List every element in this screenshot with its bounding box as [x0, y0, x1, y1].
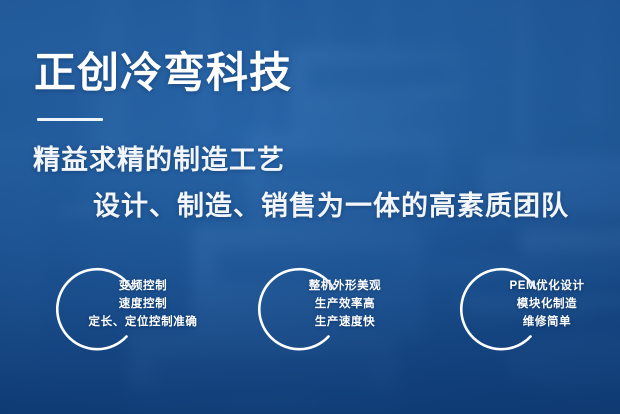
feature-text-3: PEM优化设计 模块化制造 维修简单: [464, 277, 620, 331]
headline-divider: [37, 118, 103, 121]
subtitle-line-2: 设计、制造、销售为一体的高素质团队: [93, 184, 569, 223]
feature-3-line-3: 维修简单: [464, 313, 620, 331]
feature-1-line-1: 变频控制: [60, 277, 226, 295]
feature-2-line-1: 整机外形美观: [262, 277, 428, 295]
feature-item-2: 整机外形美观 生产效率高 生产速度快: [228, 252, 428, 364]
feature-1-line-3: 定长、定位控制准确: [60, 313, 226, 331]
subtitle-line-1: 精益求精的制造工艺: [33, 138, 285, 177]
feature-text-1: 变频控制 速度控制 定长、定位控制准确: [60, 277, 226, 331]
feature-list: 变频控制 速度控制 定长、定位控制准确 整机外形美观 生产效率高 生产速度快: [0, 252, 620, 372]
feature-item-3: PEM优化设计 模块化制造 维修简单: [430, 252, 620, 364]
promo-banner: 正创冷弯科技 精益求精的制造工艺 设计、制造、销售为一体的高素质团队 变频控制 …: [0, 0, 620, 414]
company-headline: 正创冷弯科技: [34, 51, 292, 96]
banner-content: 正创冷弯科技 精益求精的制造工艺 设计、制造、销售为一体的高素质团队 变频控制 …: [0, 0, 620, 414]
feature-2-line-2: 生产效率高: [262, 295, 428, 313]
feature-3-line-2: 模块化制造: [464, 295, 620, 313]
feature-item-1: 变频控制 速度控制 定长、定位控制准确: [26, 252, 226, 364]
feature-2-line-3: 生产速度快: [262, 313, 428, 331]
feature-1-line-2: 速度控制: [60, 295, 226, 313]
feature-3-line-1: PEM优化设计: [464, 277, 620, 295]
feature-text-2: 整机外形美观 生产效率高 生产速度快: [262, 277, 428, 331]
